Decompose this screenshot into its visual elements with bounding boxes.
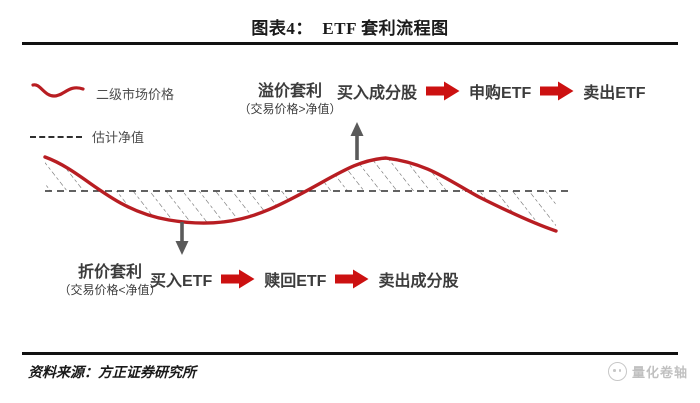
legend-item-market-price: 二级市场价格 bbox=[30, 80, 174, 107]
flow-step-sell-constituents: 卖出成分股 bbox=[378, 267, 458, 291]
premium-callout-arrow-icon bbox=[351, 122, 364, 160]
watermark: 量化卷轴 bbox=[608, 362, 688, 381]
right-arrow-icon bbox=[426, 81, 460, 101]
discount-region bbox=[45, 157, 556, 231]
red-wave-icon bbox=[30, 80, 86, 107]
divider-bottom bbox=[22, 352, 678, 355]
legend-item-estimated-nav: 估计净值 bbox=[30, 127, 144, 146]
page-title: 图表4： ETF 套利流程图 bbox=[0, 14, 700, 39]
right-arrow-icon bbox=[335, 269, 369, 289]
source-note: 资料来源：方正证券研究所 bbox=[28, 362, 196, 382]
market-price-curve bbox=[45, 157, 556, 231]
flow-step-buy-constituents: 买入成分股 bbox=[337, 79, 417, 103]
premium-region bbox=[45, 157, 556, 231]
legend-label-market-price: 二级市场价格 bbox=[96, 84, 174, 103]
premium-arbitrage-flow: 买入成分股 申购ETF 卖出ETF bbox=[337, 79, 645, 103]
flow-step-subscribe-etf: 申购ETF bbox=[469, 79, 531, 103]
legend-label-estimated-nav: 估计净值 bbox=[92, 127, 144, 146]
flow-step-buy-etf: 买入ETF bbox=[150, 267, 212, 291]
dashed-line-icon bbox=[30, 136, 82, 138]
flow-step-redeem-etf: 赎回ETF bbox=[264, 267, 326, 291]
divider-top bbox=[22, 42, 678, 45]
watermark-label: 量化卷轴 bbox=[632, 362, 688, 381]
discount-arbitrage-flow: 买入ETF 赎回ETF 卖出成分股 bbox=[150, 267, 458, 291]
exhibit-figure: 图表4： ETF 套利流程图 二级市场价格 估计净值 溢价套利 （交易价格>净值… bbox=[0, 0, 700, 403]
flow-step-sell-etf: 卖出ETF bbox=[583, 79, 645, 103]
right-arrow-icon bbox=[540, 81, 574, 101]
discount-callout-arrow-icon bbox=[176, 222, 189, 255]
right-arrow-icon bbox=[221, 269, 255, 289]
price-vs-nav-chart bbox=[0, 0, 700, 403]
wechat-icon bbox=[608, 362, 627, 381]
